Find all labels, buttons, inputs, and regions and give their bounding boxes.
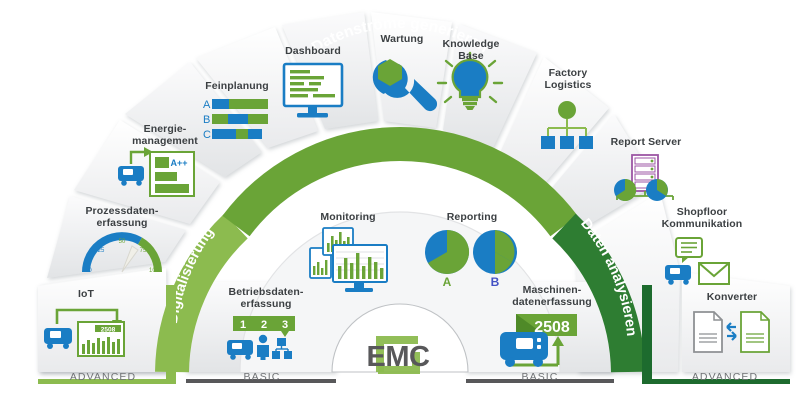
tier-edge-advanced-right (642, 285, 652, 384)
svg-text:2508: 2508 (101, 326, 116, 333)
svg-text:A: A (203, 99, 211, 111)
module-label-monitoring: Monitoring (308, 211, 388, 223)
svg-text:75: 75 (140, 248, 147, 254)
module-label-energiemanagement: Energie- management (110, 123, 220, 147)
module-label-konverter: Konverter (692, 291, 772, 303)
svg-text:A: A (443, 275, 452, 289)
svg-text:EMC: EMC (367, 341, 431, 373)
module-label-dashboard: Dashboard (273, 45, 353, 57)
emc-capability-diagram: Datenströme generieren Digitalisierung D… (0, 0, 800, 412)
tier-label-basic-right: BASIC (466, 371, 614, 383)
svg-text:A++: A++ (170, 158, 187, 168)
svg-text:3: 3 (282, 319, 288, 331)
tier-label-advanced-right: ADVANCED (660, 371, 790, 383)
module-label-maschinendatenerfassung: Maschinen- datenerfassung (496, 284, 608, 308)
module-label-knowledgebase: Knowledge Base (434, 38, 508, 62)
module-label-shopfloorkommunikation: Shopfloor Kommunikation (648, 206, 756, 230)
module-label-reporting: Reporting (432, 211, 512, 223)
emc-logo: EMC (367, 336, 431, 374)
tier-label-basic-left: BASIC (188, 371, 336, 383)
svg-text:25: 25 (98, 248, 105, 254)
svg-text:50: 50 (119, 239, 126, 245)
module-label-prozessdatenerfassung: Prozessdaten- erfassung (62, 205, 182, 229)
svg-text:100: 100 (149, 268, 160, 274)
svg-text:2: 2 (261, 319, 267, 331)
module-label-betriebsdatenerfassung: Betriebsdaten- erfassung (212, 286, 320, 310)
tier-label-advanced-left: ADVANCED (38, 371, 168, 383)
module-label-factorylogistics: Factory Logistics (528, 67, 608, 91)
module-label-wartung: Wartung (366, 33, 438, 45)
module-label-reportserver: Report Server (600, 136, 692, 148)
module-label-feinplanung: Feinplanung (187, 80, 287, 92)
module-label-iot: IoT (38, 288, 134, 300)
svg-text:1: 1 (240, 319, 246, 331)
tier-edge-advanced-left (166, 285, 176, 384)
